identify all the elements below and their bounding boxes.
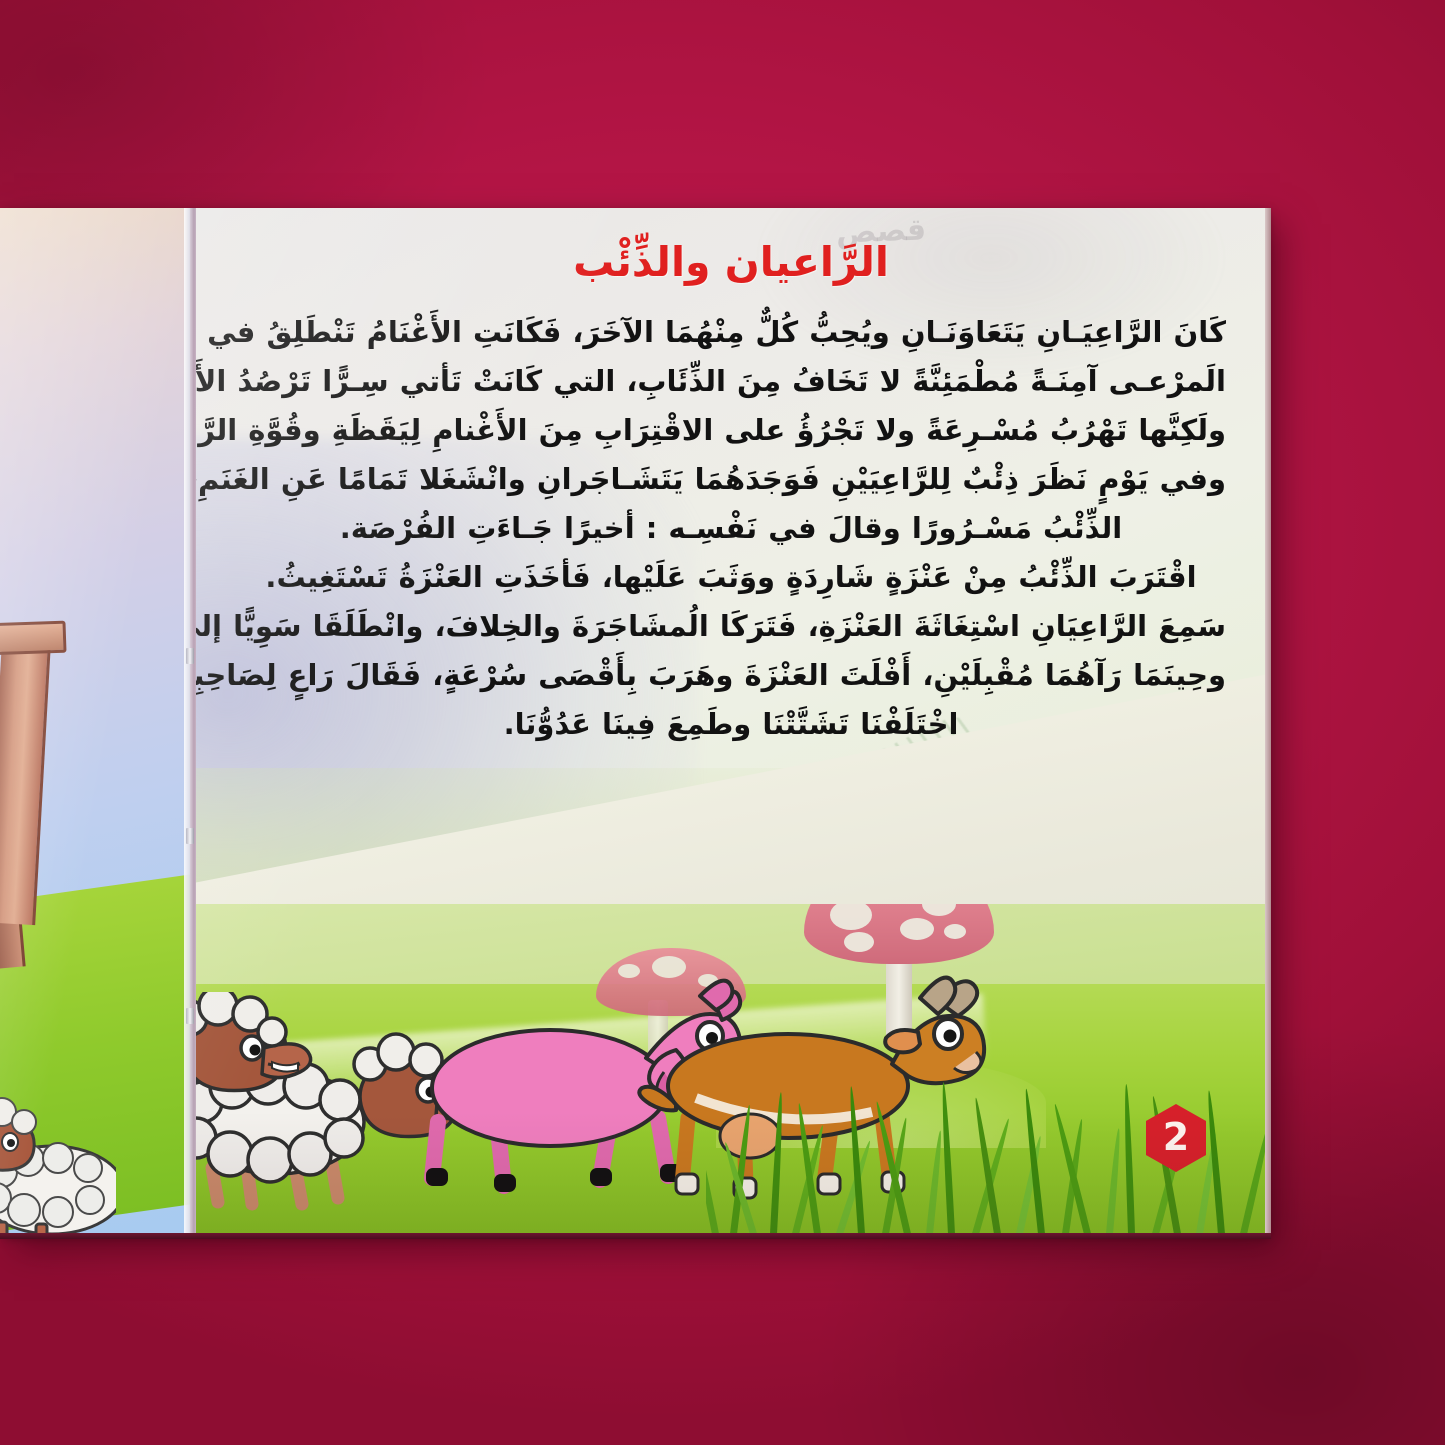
staple-bottom — [186, 1008, 194, 1024]
story-line: ولَكِنَّها تَهْرُبُ مُسْـرِعَةً ولا تَجْ… — [236, 406, 1226, 455]
story-line: وحِينَمَا رَآهُمَا مُقْبِلَيْنِ، أَفْلَت… — [236, 651, 1226, 700]
story-line: سَمِعَ الرَّاعِيَانِ اسْتِغَاثَةَ العَنْ… — [236, 602, 1226, 651]
story-page: قصص — [196, 208, 1266, 1234]
staple-upper — [186, 648, 194, 664]
story-title: الرَّاعيان والذِّئْب — [196, 238, 1266, 286]
story-line: كَانَ الرَّاعِيَـانِ يَتَعَاوَنَـانِ ويُ… — [236, 308, 1226, 357]
left-facing-page — [0, 208, 190, 1234]
book-bottom-edge — [0, 1233, 1271, 1239]
story-line: وفي يَوْمٍ نَظَرَ ذِئْبٌ لِلرَّاعِيَيْنِ… — [236, 455, 1226, 504]
page-number-text: 2 — [1163, 1118, 1189, 1156]
story-line: الذِّئْبُ مَسْـرُورًا وقالَ في نَفْسِـه … — [236, 504, 1226, 553]
open-book: قصص — [0, 208, 1266, 1234]
staple-lower — [186, 828, 194, 844]
story-body: كَانَ الرَّاعِيَـانِ يَتَعَاوَنَـانِ ويُ… — [236, 308, 1226, 749]
story-line: اخْتَلَفْنَا تَشَتَّتْنَا وطَمِعَ فِينَا… — [236, 700, 1226, 749]
story-line: اقْتَرَبَ الذِّئْبُ مِنْ عَنْزَةٍ شَارِد… — [236, 553, 1226, 602]
story-line: الَمرْعـى آمِنَـةً مُطْمَئِنَّةً لا تَخَ… — [236, 357, 1226, 406]
book-right-edge — [1265, 208, 1271, 1234]
left-page-gloss — [0, 208, 190, 1234]
story-text-layer: الرَّاعيان والذِّئْب كَانَ الرَّاعِيَـان… — [196, 208, 1266, 1234]
